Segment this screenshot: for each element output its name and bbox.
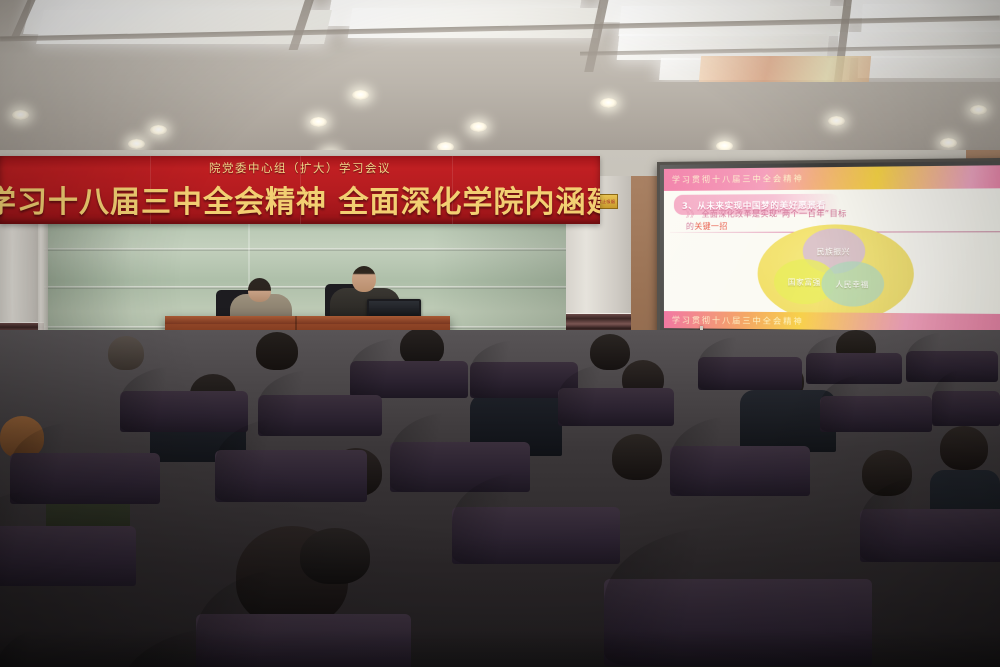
- slide-top-decor-band: 学习贯彻十八届三中全会精神: [664, 165, 1000, 191]
- seat: 湖南工院: [558, 364, 674, 426]
- seat: 湖南工院: [860, 476, 1000, 562]
- presentation-slide: 学习贯彻十八届三中全会精神 3、从未来实现中国梦的美好愿景看 》》全面深化改革是…: [664, 165, 1000, 332]
- downlight: [310, 117, 327, 127]
- slide-bottom-band-text: 学习贯彻十八届三中全会精神: [672, 314, 804, 326]
- downlight: [12, 110, 29, 120]
- downlight: [470, 122, 487, 132]
- attendee-head: [108, 336, 144, 370]
- downlight: [128, 139, 145, 149]
- seat: 湖南工院: [932, 370, 1000, 426]
- seat: 湖南工院: [215, 418, 367, 502]
- downlight: [600, 98, 617, 108]
- seat: 湖南工院: [698, 336, 802, 390]
- red-banner: 院党委中心组（扩大）学习会议 学习十八届三中全会精神 全面深化学院内涵建设: [0, 156, 600, 224]
- seat: 湖南工院: [820, 374, 932, 432]
- downlight: [970, 105, 987, 115]
- downlight: [828, 116, 845, 126]
- venn-top-label: 民族振兴: [817, 245, 850, 256]
- venn-diagram: 民族振兴 国家富强 人民幸福: [664, 234, 1000, 314]
- projection-screen: 学习贯彻十八届三中全会精神 3、从未来实现中国梦的美好愿景看 》》全面深化改革是…: [657, 158, 1000, 340]
- venn-circle-right: 人民幸福: [821, 261, 884, 306]
- conference-hall-photo: 禁止吸烟 院党委中心组（扩大）学习会议 学习十八届三中全会精神 全面深化学院内涵…: [0, 0, 1000, 667]
- audience-seating: 湖南工院 湖南工院 湖南工院 湖南工院 湖南工院 湖南工院: [0, 330, 1000, 667]
- seat: 湖南工院: [670, 416, 810, 496]
- slide-bullet-line1: 全面深化改革是实现“两个一百年”目标: [702, 209, 847, 219]
- ceiling: [0, 0, 1000, 158]
- venn-left-label: 国家富强: [788, 276, 821, 287]
- no-smoking-label: 禁止吸烟: [598, 199, 616, 205]
- banner-subtitle: 院党委中心组（扩大）学习会议: [0, 160, 600, 176]
- attendee-head: [256, 332, 298, 370]
- slide-bullet-line2-highlight: 关键一招: [694, 221, 727, 230]
- downlight: [352, 90, 369, 100]
- slide-top-band-text: 学习贯彻十八届三中全会精神: [672, 173, 804, 185]
- attendee-head: [940, 426, 988, 470]
- slide-bottom-decor-band: 学习贯彻十八届三中全会精神: [664, 311, 1000, 332]
- banner-headline: 学习十八届三中全会精神 全面深化学院内涵建设: [0, 177, 600, 221]
- venn-right-label: 人民幸福: [835, 278, 868, 289]
- seat: 湖南工院: [452, 472, 620, 564]
- downlight: [940, 138, 957, 148]
- seat: 湖南工院: [0, 490, 136, 586]
- slide-bullet-arrow: 》》: [686, 210, 699, 219]
- downlight: [150, 125, 167, 135]
- venn-outer-oval: 民族振兴 国家富强 人民幸福: [757, 224, 913, 323]
